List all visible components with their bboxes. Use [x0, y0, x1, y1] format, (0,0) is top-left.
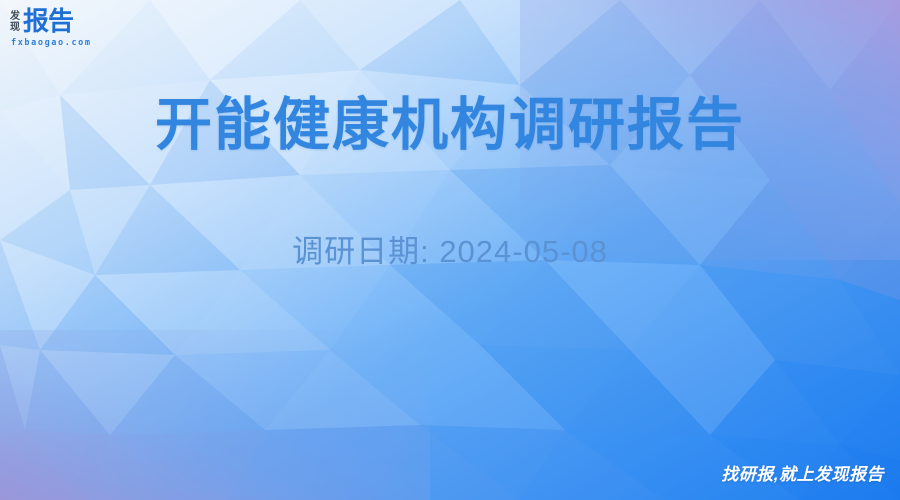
logo-wordmark-row: 发 现 报告 [10, 8, 73, 36]
survey-date-subtitle: 调研日期: 2024-05-08 [0, 232, 900, 272]
logo-wordmark: 报告 [23, 9, 73, 35]
page-title: 开能健康机构调研报告 [0, 88, 900, 162]
site-logo[interactable]: 发 现 报告 fxbaogao.com [10, 8, 125, 54]
footer-slogan: 找研报,就上发现报告 [721, 460, 884, 485]
logo-mark-bottom: 现 [10, 22, 20, 33]
logo-mark-stack: 发 现 [10, 11, 20, 33]
logo-url: fxbaogao.com [11, 38, 92, 48]
logo-mark-top: 发 [10, 11, 20, 22]
report-cover-slide: 发 现 报告 fxbaogao.com 开能健康机构调研报告 调研日期: 202… [0, 0, 900, 500]
